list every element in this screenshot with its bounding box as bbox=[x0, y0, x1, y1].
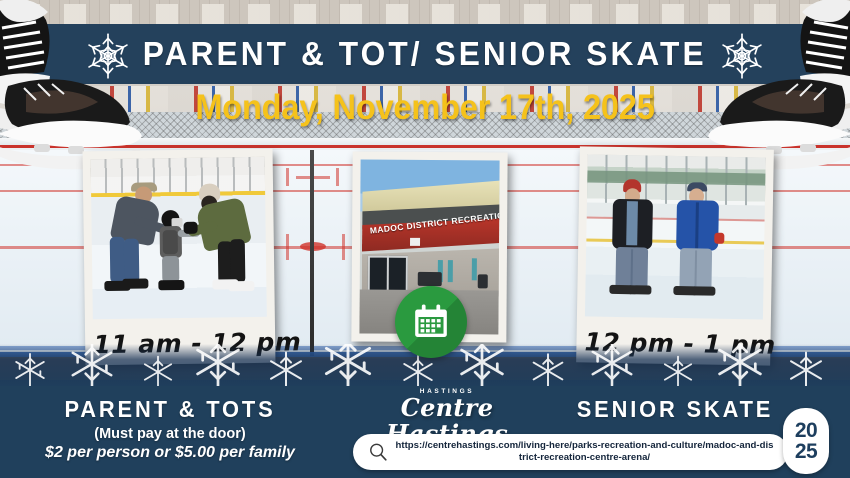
year-badge: 20 25 bbox=[783, 408, 829, 474]
arena-post bbox=[310, 150, 314, 356]
building-bench bbox=[418, 272, 442, 286]
skate-event-poster: PARENT & TOT/ SENIOR SKATE bbox=[0, 0, 850, 478]
senior-skate-photo: 12 pm - 1 pm bbox=[576, 146, 774, 365]
parent-tot-photo: 11 am - 12 pm bbox=[83, 149, 276, 366]
adult-skater bbox=[122, 278, 148, 288]
senior-skate-heading: SENIOR SKATE bbox=[561, 396, 789, 423]
building-door-divider bbox=[387, 256, 389, 294]
senior-skater-1 bbox=[627, 285, 651, 294]
adult-skater bbox=[124, 239, 140, 283]
toddler-skater bbox=[162, 256, 179, 282]
senior-skate-photo-image bbox=[585, 154, 766, 319]
building-window bbox=[472, 258, 477, 280]
senior-skater-1 bbox=[626, 201, 638, 245]
ice-marking bbox=[342, 234, 345, 260]
website-url-text[interactable]: https://centrehastings.com/living-here/p… bbox=[395, 440, 774, 464]
toddler-skater bbox=[163, 230, 178, 254]
year-top: 20 bbox=[795, 420, 817, 441]
adult-skater-2 bbox=[230, 239, 246, 283]
parent-tots-note: (Must pay at the door) bbox=[0, 426, 340, 442]
website-url-bar[interactable]: https://centrehastings.com/living-here/p… bbox=[353, 434, 788, 470]
building-trash-bin bbox=[478, 274, 488, 288]
ice-marking bbox=[336, 168, 339, 186]
parent-tots-heading: PARENT & TOTS bbox=[9, 396, 332, 423]
adult-skater-2 bbox=[184, 222, 198, 234]
rink-glass bbox=[91, 157, 265, 193]
year-bottom: 25 bbox=[795, 441, 817, 462]
toddler-skater bbox=[158, 280, 184, 290]
page-title: PARENT & TOT/ SENIOR SKATE bbox=[143, 35, 707, 73]
calendar-icon bbox=[411, 302, 451, 342]
senior-skater-2 bbox=[714, 233, 724, 244]
parent-tot-photo-image bbox=[91, 157, 267, 319]
building-plaque bbox=[410, 238, 420, 246]
calendar-badge bbox=[395, 286, 467, 358]
parent-tots-price: $2 per person or $5.00 per family bbox=[0, 444, 340, 462]
ice-marking bbox=[286, 234, 289, 260]
adult-skater-2 bbox=[228, 281, 254, 291]
magnifier-icon bbox=[367, 441, 389, 463]
senior-skater-2 bbox=[691, 286, 715, 295]
building-window bbox=[448, 260, 453, 282]
ice-marking bbox=[286, 168, 289, 186]
